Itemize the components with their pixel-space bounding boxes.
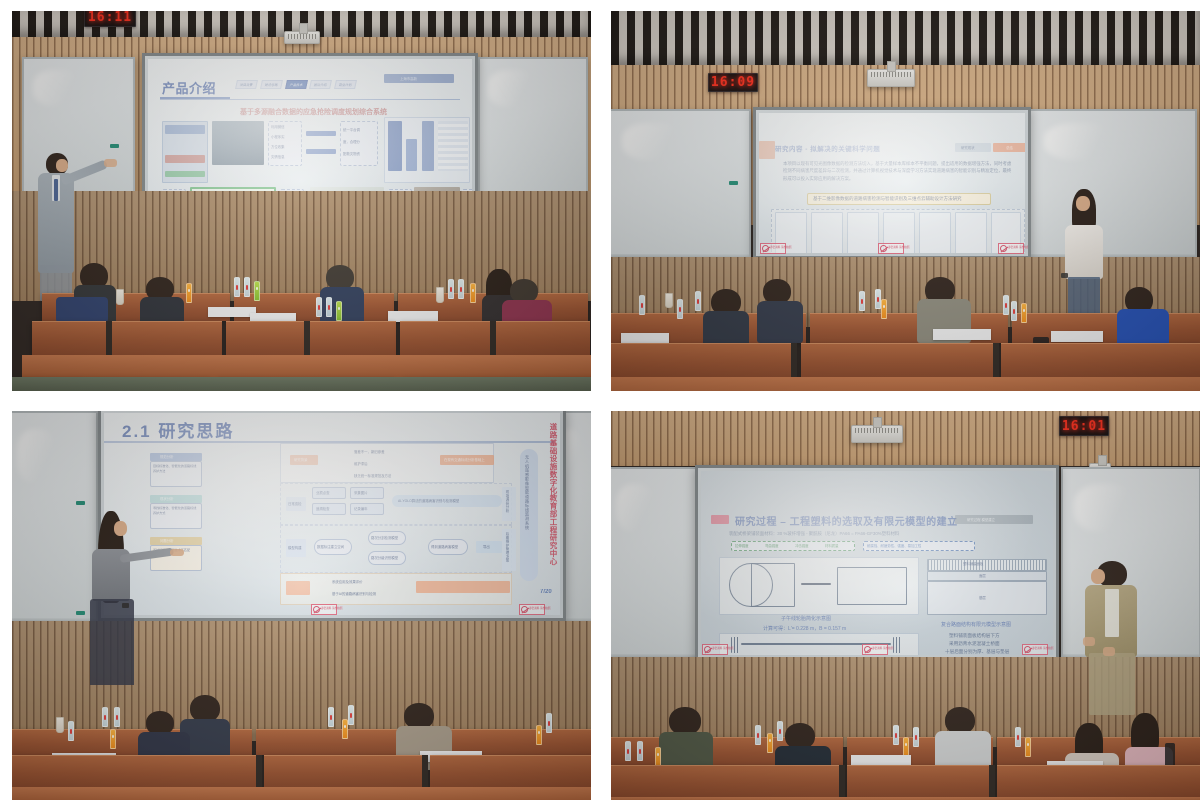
handout bbox=[933, 329, 991, 340]
daily-label-text: 日常巡检 bbox=[288, 501, 302, 506]
tag-green: 拉伸强度 bbox=[735, 543, 749, 548]
node-detail: 目标标准化、智能化的道路标线养护方法 bbox=[153, 464, 199, 473]
led-clock-top-right: 16:09 bbox=[708, 73, 758, 92]
tag-blue: 耐腐蚀、耐疲劳性、强度、易加工性 bbox=[867, 543, 921, 548]
fig3-layer-label: 基层 bbox=[979, 595, 986, 600]
ceiling-projector bbox=[284, 31, 320, 44]
slide-title: 产品介绍 bbox=[162, 78, 216, 97]
tab-label: 总结 bbox=[1006, 145, 1013, 150]
slide-headline: 基于二维影像数据的道路病害检测与智能识别及三维点云辅助设计方法研究 bbox=[813, 196, 962, 202]
daily-item: 业损点查 bbox=[316, 490, 330, 495]
note-line: 采用沥青水泥混凝土桥面 bbox=[949, 641, 1000, 647]
desk-row-front bbox=[997, 765, 1200, 797]
model-item: 路况分级识别模型 bbox=[371, 555, 398, 560]
drink-bottle bbox=[186, 283, 192, 303]
handout bbox=[1051, 331, 1103, 342]
note-line: 十层后面分别为厚、基层与垫层 bbox=[945, 649, 1009, 655]
desk-surface bbox=[12, 787, 591, 800]
slide-photo-tile bbox=[212, 121, 264, 165]
no-photo-stamp: 涉密资料 请勿拍照 bbox=[878, 243, 904, 254]
right-label: 后期维护管理决策 bbox=[505, 532, 510, 562]
daily-item: 追溯检查 bbox=[316, 506, 330, 511]
drink-bottle bbox=[536, 725, 542, 745]
no-photo-stamp: 涉密资料 请勿拍照 bbox=[998, 243, 1024, 254]
fig3-layer-label: 面层 bbox=[979, 573, 986, 578]
slide-title: 研究过程 – 工程塑料的选取及有限元模型的建立 bbox=[735, 513, 958, 528]
no-photo-icon bbox=[1000, 245, 1007, 252]
cell-text: 小程序实 bbox=[271, 134, 285, 139]
whiteboard-right bbox=[478, 57, 588, 201]
desk-row-front bbox=[226, 321, 396, 355]
projection-screen-bottom-right: 研究过程 – 工程塑料的选取及有限元模型的建立 研究过程 模型建立 装配式桥梁铺… bbox=[695, 465, 1059, 661]
drink-bottle bbox=[695, 291, 701, 311]
issue-item: 缺乏统一标准规范及方法 bbox=[354, 473, 391, 478]
led-clock-bottom-right: 16:01 bbox=[1059, 416, 1109, 436]
slide-title: 2.1 研究思路 bbox=[122, 417, 234, 442]
hand bbox=[1083, 637, 1095, 646]
drink-bottle bbox=[881, 299, 887, 319]
model-label-text: 模型构建 bbox=[288, 545, 302, 550]
fig1-note: 计算可得：L'= 0.228 m，B = 0.157 m bbox=[763, 625, 846, 632]
slide-headline: 基于多源融合数据的应急抢险调度规划综合系统 bbox=[240, 107, 387, 117]
drink-bottle bbox=[328, 707, 334, 727]
daily-item: 采集图片 bbox=[354, 490, 368, 495]
drink-bottle bbox=[1003, 295, 1009, 315]
cell-text: 利用微信 bbox=[271, 124, 285, 129]
no-photo-icon bbox=[521, 606, 528, 613]
no-photo-stamp: 涉密资料 请勿拍照 bbox=[311, 604, 337, 615]
panel-bottom-right: 16:01 研究过程 – 工程塑料的选取及有限元模型的建立 研究过程 模型建立 … bbox=[611, 411, 1200, 800]
slide-tab-active: 产品技术 bbox=[285, 80, 308, 89]
desk-row-front bbox=[430, 755, 591, 787]
slide-top-right: 研究内容 - 拟解决的关键科学问题 研究现状 总结 本项目以现有可见光图像数据的… bbox=[759, 113, 1025, 253]
flow-node bbox=[150, 495, 202, 503]
tag-green: 冲击强度 bbox=[795, 543, 809, 548]
drink-bottle bbox=[767, 733, 773, 753]
drink-bottle bbox=[458, 279, 464, 299]
drink-bottle bbox=[755, 725, 761, 745]
drink-bottle bbox=[1021, 303, 1027, 323]
slide-tabbar: 项目背景 建设思路 产品技术 团队介绍 商业计划 bbox=[236, 80, 356, 89]
daily-item: 记录编年 bbox=[354, 506, 368, 511]
whiteboard-right bbox=[1029, 109, 1197, 257]
coffee-cup bbox=[436, 287, 444, 303]
drink-bottle bbox=[110, 729, 116, 749]
drink-bottle bbox=[342, 719, 348, 739]
tab-label: 研究现状 bbox=[961, 145, 975, 150]
drink-bottle bbox=[316, 297, 322, 317]
presenter-bottom-left bbox=[86, 511, 156, 683]
note-line: 塑料铺装面板结构层下方 bbox=[949, 633, 1000, 639]
model-export: 导出 bbox=[483, 544, 490, 549]
arrow-left bbox=[306, 131, 336, 136]
desk-surface bbox=[22, 355, 591, 377]
drink-bottle bbox=[348, 705, 354, 725]
node-detail: 寻找标准化、智能化的道路标线养护方式 bbox=[153, 506, 199, 515]
slide-body-text: 本项目以现有可见光图像数据的检测方法切入，基于大量样本库样本不平衡问题，提出适用… bbox=[783, 160, 1015, 182]
daily-note: AI-YOLO算法的道路病害识别与检测模型 bbox=[398, 498, 459, 503]
tag-green: 弯曲强度 bbox=[765, 543, 779, 548]
no-photo-stamp: 涉密资料 请勿拍照 bbox=[702, 644, 728, 655]
right-label: 现场调研分析 bbox=[505, 490, 510, 513]
slide-subtitle: 装配式桥梁铺装面材料：30 %玻纤增强 - 聚酰胺（尼龙）PA66 = PA66… bbox=[729, 531, 899, 537]
drink-bottle bbox=[68, 721, 74, 741]
drink-bottle bbox=[777, 721, 783, 741]
desk-row-front bbox=[1001, 343, 1200, 377]
drink-bottle bbox=[1015, 727, 1021, 747]
no-photo-stamp: 涉密资料 请勿拍照 bbox=[862, 644, 888, 655]
drink-bottle bbox=[655, 747, 661, 767]
banner-research-center: 道路基础设施数字化教育部工程研究中心 bbox=[548, 423, 559, 565]
drink-bottle bbox=[114, 707, 120, 727]
issue-item: 落差不一，新旧参差 bbox=[354, 449, 385, 454]
slide-title: 研究内容 - 拟解决的关键科学问题 bbox=[775, 143, 880, 153]
drink-bottle bbox=[336, 301, 342, 321]
no-photo-stamp: 涉密资料 请勿拍照 bbox=[1022, 644, 1048, 655]
footer-item: 系统应用及效果评价 bbox=[332, 579, 363, 584]
cell-text: 度，合理分 bbox=[343, 139, 360, 144]
ceiling-projector bbox=[851, 425, 903, 443]
bag bbox=[56, 297, 108, 323]
presenter-top-right bbox=[1063, 189, 1111, 317]
cell-text: 方位收集 bbox=[271, 144, 285, 149]
cell-text: 统一平台调 bbox=[343, 127, 360, 132]
desk-surface bbox=[611, 377, 1200, 391]
drink-bottle bbox=[470, 283, 476, 303]
node-label: 现状分析 bbox=[160, 496, 174, 501]
no-photo-icon bbox=[864, 646, 871, 653]
tag-green: 材料质量 bbox=[825, 543, 839, 548]
drink-bottle bbox=[234, 277, 240, 297]
hand bbox=[1103, 647, 1115, 656]
desk-row-front bbox=[12, 755, 260, 787]
fig3-layer-label: 塑料铺装面板 bbox=[963, 561, 983, 566]
slide-bottom-left: 2.1 研究思路 规范分析 目标标准化、智能化的道路标线养护方法 现状分析 寻找… bbox=[104, 413, 560, 615]
slide-badge-label: 上海市高新 bbox=[400, 76, 417, 81]
no-photo-icon bbox=[880, 245, 887, 252]
drink-bottle bbox=[254, 281, 260, 301]
slide-tab: 项目背景 bbox=[235, 80, 258, 89]
no-photo-icon bbox=[313, 606, 320, 613]
fig1-caption: 子午线轮胎简化示意图 bbox=[781, 615, 831, 622]
handout bbox=[208, 307, 256, 317]
drink-bottle bbox=[326, 297, 332, 317]
desk-row-front bbox=[264, 755, 426, 787]
drink-bottle bbox=[903, 737, 909, 757]
coffee-cup bbox=[56, 717, 64, 733]
arrow-right bbox=[306, 149, 336, 154]
slide-tab: 团队介绍 bbox=[309, 80, 332, 89]
issue-item: 维护滞后 bbox=[354, 461, 368, 466]
fig3-caption: 复合路面结构有限元模型示意图 bbox=[941, 621, 1011, 628]
drink-bottle bbox=[448, 279, 454, 299]
drink-bottle bbox=[859, 291, 865, 311]
whiteboard-left bbox=[611, 467, 697, 657]
slide-tab: 商业计划 bbox=[334, 80, 357, 89]
presenter-bottom-right bbox=[1083, 561, 1143, 716]
panel-bottom-left: 2.1 研究思路 规范分析 目标标准化、智能化的道路标线养护方法 现状分析 寻找… bbox=[12, 411, 591, 800]
drink-bottle bbox=[893, 725, 899, 745]
led-clock-top-left: 16:11 bbox=[84, 11, 136, 27]
desk-row-front bbox=[801, 343, 997, 377]
desk-row-front bbox=[32, 321, 222, 355]
presenter-clicker bbox=[1061, 273, 1068, 278]
panel-top-right: 16:09 研究内容 - 拟解决的关键科学问题 研究现状 总结 bbox=[611, 11, 1200, 391]
arrow-right-icon bbox=[801, 583, 831, 585]
whiteboard-left bbox=[611, 109, 751, 257]
drink-bottle bbox=[102, 707, 108, 727]
drink-bottle bbox=[244, 277, 250, 297]
slide-badge-label: 研究过程 模型建立 bbox=[967, 517, 995, 522]
model-result: 得到道路病害模型 bbox=[431, 544, 458, 549]
vertical-pill-text: 无人机遥感影像智能道路标线监测系统 bbox=[524, 455, 530, 530]
cell-text: 灾情信息 bbox=[271, 154, 285, 159]
no-photo-icon bbox=[704, 646, 711, 653]
drink-bottle bbox=[637, 741, 643, 761]
ceiling-projector bbox=[867, 69, 915, 87]
issue-arrow-label: 在现有交通标线分析基础上 bbox=[444, 457, 485, 462]
no-photo-stamp: 涉密资料 请勿拍照 bbox=[519, 604, 545, 615]
drink-bottle bbox=[677, 299, 683, 319]
cell-text: 配救灾物资 bbox=[343, 151, 360, 156]
drink-bottle bbox=[913, 727, 919, 747]
drink-bottle bbox=[546, 713, 552, 733]
desk-row-front bbox=[611, 765, 843, 797]
no-photo-stamp: 涉密资料 请勿拍照 bbox=[760, 243, 786, 254]
projection-screen-top-right: 研究内容 - 拟解决的关键科学问题 研究现状 总结 本项目以现有可见光图像数据的… bbox=[753, 107, 1031, 259]
thermos bbox=[116, 289, 124, 305]
flow-node bbox=[150, 537, 202, 545]
slide-page-number: 7/20 bbox=[540, 589, 552, 595]
slide-badge bbox=[384, 74, 454, 83]
drink-bottle bbox=[1011, 301, 1017, 321]
model-item: 路况分割检测模型 bbox=[371, 535, 398, 540]
coffee-cup bbox=[665, 293, 673, 308]
flow-node bbox=[150, 453, 202, 461]
projection-screen-bottom-left: 2.1 研究思路 规范分析 目标标准化、智能化的道路标线养护方法 现状分析 寻找… bbox=[98, 411, 566, 621]
drink-bottle bbox=[1025, 737, 1031, 757]
photo-collage: 16:11 产品介绍 bbox=[0, 0, 1200, 800]
slide-bottom-right: 研究过程 – 工程塑料的选取及有限元模型的建立 研究过程 模型建立 装配式桥梁铺… bbox=[701, 471, 1053, 655]
desk-row-front bbox=[611, 343, 797, 377]
presenter-clicker bbox=[122, 603, 129, 608]
thermos bbox=[1165, 743, 1175, 767]
node-label: 规范分析 bbox=[160, 454, 174, 459]
panel-top-left: 16:11 产品介绍 bbox=[12, 11, 591, 391]
drink-bottle bbox=[625, 741, 631, 761]
desk-row-front bbox=[847, 765, 993, 797]
no-photo-icon bbox=[1024, 646, 1031, 653]
node-label: 问题分析 bbox=[160, 538, 174, 543]
no-photo-icon bbox=[762, 245, 769, 252]
footer-item: 基于AI的道路病害识别与检测 bbox=[332, 591, 376, 596]
model-item: 数据标注建立空间 bbox=[317, 544, 344, 549]
drink-bottle bbox=[639, 295, 645, 315]
issue-label-text: 研究背景 bbox=[294, 457, 308, 462]
slide-tab: 建设思路 bbox=[260, 80, 283, 89]
